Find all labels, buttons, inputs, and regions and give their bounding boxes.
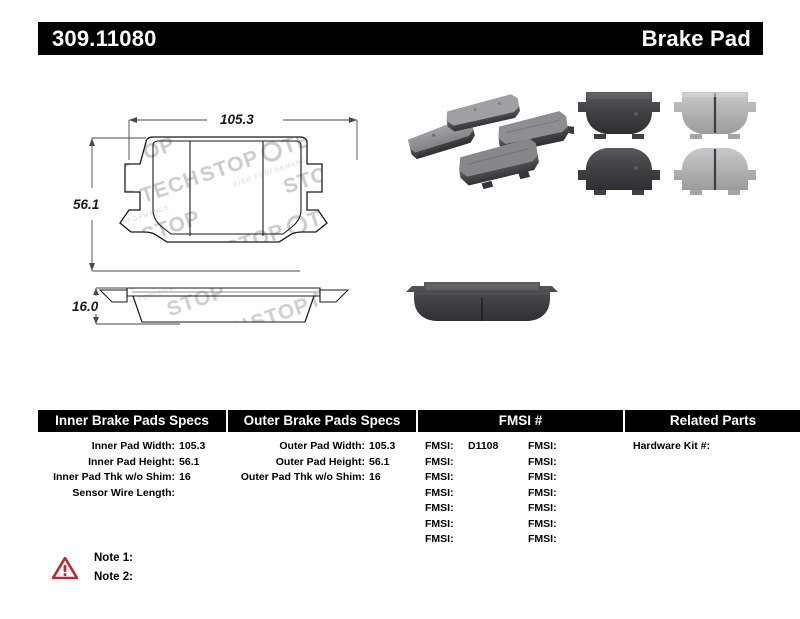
drawing-area: 105.3 56.1 16.0 STOP TECH HIGH PERFORMAN… bbox=[0, 60, 800, 400]
spec-label: Outer Pad Width: bbox=[228, 439, 365, 455]
fmsi-value bbox=[564, 486, 571, 502]
pad-photo-top-right bbox=[674, 92, 756, 139]
fmsi-label: FMSI: bbox=[528, 501, 564, 517]
column-fmsi: FMSI # FMSI: D1108 FMSI: FMSI: FMSI: bbox=[418, 410, 623, 548]
spec-value: 56.1 bbox=[175, 455, 226, 471]
fmsi-value bbox=[564, 517, 571, 533]
fmsi-row: FMSI: bbox=[425, 470, 528, 486]
note-line-2: Note 2: bbox=[94, 571, 133, 583]
fmsi-row: FMSI: bbox=[425, 532, 528, 548]
column-header-related-parts: Related Parts bbox=[625, 410, 800, 432]
spec-value: 56.1 bbox=[365, 455, 416, 471]
fmsi-row: FMSI: bbox=[528, 486, 623, 502]
pad-photo-top-left bbox=[578, 92, 660, 139]
fmsi-label: FMSI: bbox=[425, 532, 461, 548]
fmsi-value bbox=[461, 532, 468, 548]
spec-value: 16 bbox=[175, 470, 226, 486]
fmsi-label: FMSI: bbox=[425, 486, 461, 502]
product-photo-side-profile bbox=[400, 272, 570, 334]
column-related-parts: Related Parts Hardware Kit #: bbox=[625, 410, 800, 455]
fmsi-label: FMSI: bbox=[425, 439, 461, 455]
fmsi-label: FMSI: bbox=[425, 501, 461, 517]
spec-value: 105.3 bbox=[365, 439, 416, 455]
note-line-1: Note 1: bbox=[94, 552, 133, 564]
spec-label: Inner Pad Thk w/o Shim: bbox=[38, 470, 175, 486]
spec-row: Inner Pad Thk w/o Shim: 16 bbox=[38, 470, 226, 486]
spec-row: Inner Pad Height: 56.1 bbox=[38, 455, 226, 471]
spec-label: Sensor Wire Length: bbox=[38, 486, 175, 502]
pad-photo-bottom-left bbox=[578, 148, 660, 195]
pad-side-view bbox=[100, 282, 348, 330]
fmsi-value bbox=[461, 470, 468, 486]
product-photo-angled-set bbox=[404, 92, 574, 192]
column-inner-specs: Inner Brake Pads Specs Inner Pad Width: … bbox=[38, 410, 226, 501]
fmsi-row: FMSI: bbox=[528, 455, 623, 471]
fmsi-value bbox=[564, 501, 571, 517]
notes-section: Note 1: Note 2: bbox=[52, 552, 352, 594]
part-number: 309.11080 bbox=[52, 28, 157, 50]
fmsi-label: FMSI: bbox=[528, 532, 564, 548]
spec-row: Outer Pad Thk w/o Shim: 16 bbox=[228, 470, 416, 486]
column-header-inner-specs: Inner Brake Pads Specs bbox=[38, 410, 226, 432]
spec-value: 16 bbox=[365, 470, 416, 486]
spec-row: Outer Pad Width: 105.3 bbox=[228, 439, 416, 455]
related-part-row: Hardware Kit #: bbox=[625, 439, 800, 455]
fmsi-label: FMSI: bbox=[528, 470, 564, 486]
product-type: Brake Pad bbox=[642, 28, 751, 50]
fmsi-label: FMSI: bbox=[425, 455, 461, 471]
fmsi-label: FMSI: bbox=[425, 517, 461, 533]
related-part-label: Hardware Kit #: bbox=[633, 440, 710, 452]
fmsi-value bbox=[461, 486, 468, 502]
pad-photo-bottom-right bbox=[674, 148, 756, 195]
fmsi-sublist-left: FMSI: D1108 FMSI: FMSI: FMSI: FMSI: bbox=[418, 439, 528, 548]
fmsi-label: FMSI: bbox=[528, 439, 564, 455]
spec-label: Inner Pad Width: bbox=[38, 439, 175, 455]
fmsi-row: FMSI: bbox=[528, 532, 623, 548]
product-photo-flatlay-set bbox=[578, 86, 768, 198]
fmsi-value bbox=[564, 439, 571, 455]
fmsi-value bbox=[461, 517, 468, 533]
specifications-table: Inner Brake Pads Specs Inner Pad Width: … bbox=[38, 410, 763, 550]
fmsi-row: FMSI: bbox=[528, 517, 623, 533]
fmsi-row: FMSI: bbox=[425, 486, 528, 502]
fmsi-value bbox=[564, 532, 571, 548]
fmsi-label: FMSI: bbox=[528, 486, 564, 502]
warning-triangle-icon bbox=[52, 557, 78, 579]
fmsi-row: FMSI: bbox=[528, 501, 623, 517]
fmsi-value bbox=[564, 470, 571, 486]
fmsi-value bbox=[461, 455, 468, 471]
spec-value: 105.3 bbox=[175, 439, 226, 455]
column-outer-specs: Outer Brake Pads Specs Outer Pad Width: … bbox=[228, 410, 416, 486]
fmsi-row: FMSI: bbox=[528, 439, 623, 455]
column-header-outer-specs: Outer Brake Pads Specs bbox=[228, 410, 416, 432]
column-header-fmsi: FMSI # bbox=[418, 410, 623, 432]
fmsi-label: FMSI: bbox=[528, 517, 564, 533]
fmsi-row: FMSI: bbox=[425, 455, 528, 471]
spec-label: Inner Pad Height: bbox=[38, 455, 175, 471]
spec-label: Outer Pad Thk w/o Shim: bbox=[228, 470, 365, 486]
spec-row: Inner Pad Width: 105.3 bbox=[38, 439, 226, 455]
fmsi-value bbox=[461, 501, 468, 517]
spec-label: Outer Pad Height: bbox=[228, 455, 365, 471]
fmsi-row: FMSI: bbox=[425, 501, 528, 517]
fmsi-row: FMSI: D1108 bbox=[425, 439, 528, 455]
header-bar: 309.11080 Brake Pad bbox=[38, 22, 763, 55]
fmsi-row: FMSI: bbox=[425, 517, 528, 533]
fmsi-value bbox=[564, 455, 571, 471]
fmsi-value: D1108 bbox=[461, 439, 498, 455]
spec-value bbox=[175, 486, 226, 502]
fmsi-label: FMSI: bbox=[425, 470, 461, 486]
spec-row: Outer Pad Height: 56.1 bbox=[228, 455, 416, 471]
fmsi-label: FMSI: bbox=[528, 455, 564, 471]
spec-row: Sensor Wire Length: bbox=[38, 486, 226, 502]
fmsi-row: FMSI: bbox=[528, 470, 623, 486]
pad-face-view bbox=[110, 130, 350, 255]
fmsi-sublist-right: FMSI: FMSI: FMSI: FMSI: FMSI: bbox=[528, 439, 623, 548]
